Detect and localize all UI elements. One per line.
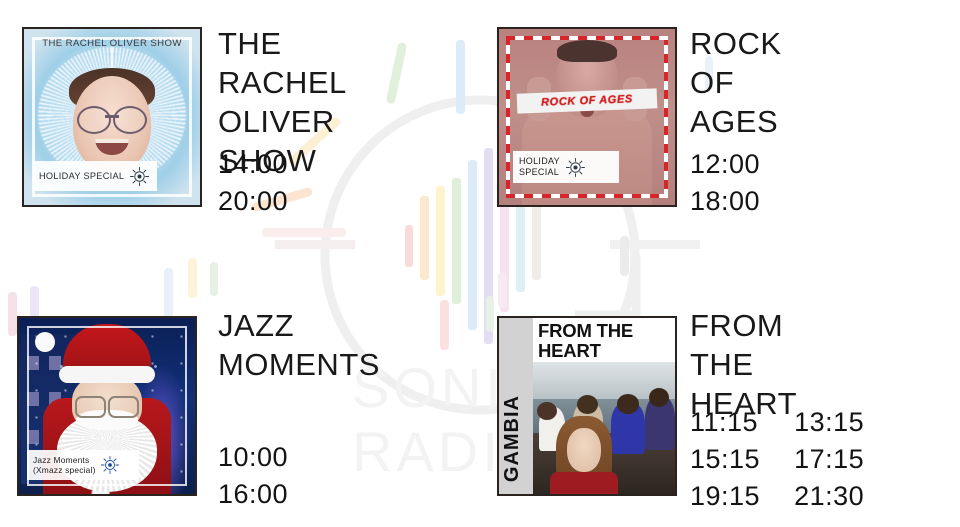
- time-slot[interactable]: 18:00: [690, 183, 760, 220]
- sonic-radio-sun-icon: [566, 158, 585, 177]
- artwork-overlay-title: THE RACHEL OLIVER SHOW: [24, 38, 200, 49]
- badge-label: HOLIDAY SPECIAL: [519, 156, 560, 178]
- country-label: GAMBIA: [501, 395, 531, 482]
- show-times: 12:00 18:00: [690, 146, 760, 220]
- the-rachel-oliver-show-artwork[interactable]: THE RACHEL OLIVER SHOW HOLIDAY SPECIAL: [22, 27, 202, 207]
- show-times: 14:00 20:00: [218, 146, 288, 220]
- time-slot[interactable]: 11:15: [690, 404, 760, 441]
- badge-label: Jazz Moments (Xmazz special): [33, 455, 96, 475]
- passenger-head: [617, 394, 639, 414]
- rock-of-ages-artwork[interactable]: ROCK OF AGES HOLIDAY SPECIAL: [497, 27, 677, 207]
- sonic-radio-sun-icon: [101, 456, 120, 475]
- show-times: 10:00 16:00: [218, 439, 288, 513]
- schedule-poster: SONIC RADIO THE RACHEL OLIVER SHOW HOLID…: [0, 0, 960, 527]
- face-shape: [567, 428, 601, 472]
- time-slot[interactable]: 17:15: [794, 441, 864, 478]
- time-slot[interactable]: 21:30: [794, 478, 864, 515]
- from-the-heart-artwork[interactable]: GAMBIA FROM THE HEART Rosetta's scary mo…: [497, 316, 677, 496]
- foreground-woman: [556, 416, 612, 494]
- artwork-headline: FROM THE HEART: [538, 321, 671, 361]
- time-slot[interactable]: 16:00: [218, 476, 288, 513]
- time-slot[interactable]: 13:15: [794, 404, 864, 441]
- holiday-special-badge: HOLIDAY SPECIAL: [513, 151, 619, 183]
- time-slot[interactable]: 14:00: [218, 146, 288, 183]
- jazz-moments-badge: Jazz Moments (Xmazz special): [27, 450, 139, 480]
- passenger-head: [577, 395, 598, 414]
- country-sidebar: GAMBIA: [499, 318, 533, 494]
- time-slot[interactable]: 20:00: [218, 183, 288, 220]
- jazz-moments-artwork[interactable]: Jazz Moments (Xmazz special): [17, 316, 197, 496]
- show-title: ROCK OF AGES: [690, 24, 782, 141]
- red-top-shape: [550, 472, 618, 494]
- time-slot[interactable]: 15:15: [690, 441, 760, 478]
- time-slot[interactable]: 12:00: [690, 146, 760, 183]
- sonic-radio-sun-icon: [130, 167, 149, 186]
- show-title: JAZZ MOMENTS: [218, 306, 380, 384]
- boat-photo: [533, 362, 675, 494]
- time-slot[interactable]: 19:15: [690, 478, 760, 515]
- show-times: 11:15 13:15 15:15 17:15 19:15 21:30: [690, 404, 864, 515]
- artwork-header: FROM THE HEART Rosetta's scary mode of t…: [533, 318, 675, 362]
- passenger-head: [537, 402, 557, 420]
- time-slot[interactable]: 10:00: [218, 439, 288, 476]
- holiday-special-badge: HOLIDAY SPECIAL: [33, 161, 157, 191]
- badge-label: HOLIDAY SPECIAL: [39, 171, 124, 181]
